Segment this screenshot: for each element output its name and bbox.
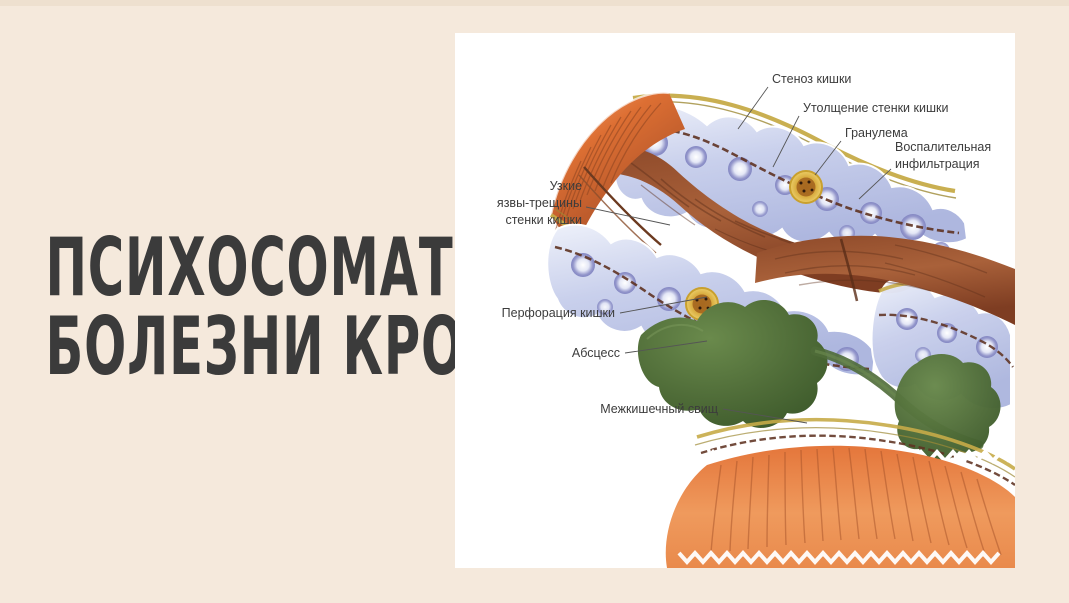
- slide-canvas: ПСИХОСОМАТИКА БОЛЕЗНИ КРОНА: [0, 0, 1069, 603]
- annotation-label-stenosis: Стеноз кишки: [772, 72, 851, 86]
- annotation-line: инфильтрация: [895, 157, 980, 171]
- title-line-1: ПСИХОСОМАТИКА: [46, 229, 410, 308]
- annotation-line: Воспалительная: [895, 140, 991, 154]
- annotation-line: Узкие: [550, 179, 582, 193]
- crohn-disease-diagram: Стеноз кишкиУтолщение стенки кишкиГранул…: [455, 33, 1015, 568]
- annotation-line: Перфорация кишки: [502, 306, 615, 320]
- illustration-panel: Стеноз кишкиУтолщение стенки кишкиГранул…: [455, 33, 1015, 568]
- annotation-line: Утолщение стенки кишки: [803, 101, 948, 115]
- annotation-line: Стеноз кишки: [772, 72, 851, 86]
- annotation-line: язвы-трещины: [497, 196, 582, 210]
- title-line-2: БОЛЕЗНИ КРОНА: [46, 308, 410, 387]
- annotation-label-abscess: Абсцесс: [572, 346, 620, 360]
- page-title: ПСИХОСОМАТИКА БОЛЕЗНИ КРОНА: [0, 238, 455, 378]
- annotation-line: Гранулема: [845, 126, 908, 140]
- annotation-label-granuloma: Гранулема: [845, 126, 908, 140]
- granuloma-upper: [790, 171, 822, 203]
- annotation-line: стенки кишки: [505, 213, 582, 227]
- annotation-line: Абсцесс: [572, 346, 620, 360]
- annotation-label-enteric-fistula: Межкишечный свищ: [600, 402, 718, 416]
- annotation-line: Межкишечный свищ: [600, 402, 718, 416]
- annotation-label-wall-thickening: Утолщение стенки кишки: [803, 101, 948, 115]
- annotation-label-perforation: Перфорация кишки: [502, 306, 615, 320]
- top-edge-band: [0, 0, 1069, 6]
